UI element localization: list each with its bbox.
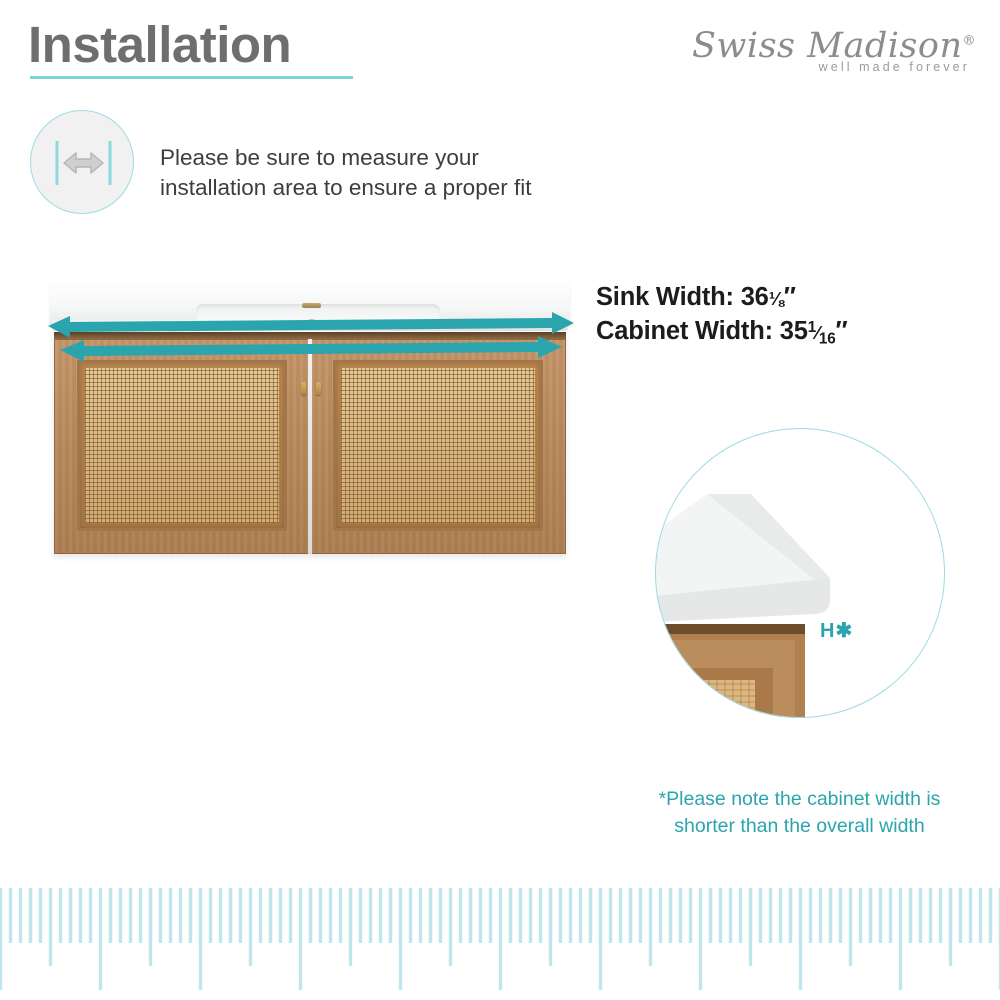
vanity-illustration [40,270,580,630]
detail-circle-ring [655,428,945,718]
ruler-ticks [1,888,1000,990]
cabinet-width-arrow [60,336,562,362]
cabinet-width-footnote: *Please note the cabinet width is shorte… [612,786,987,839]
title-underline [30,76,353,79]
overhang-detail-callout [655,428,945,718]
measure-instruction: Please be sure to measure your installat… [160,143,600,203]
cabinet-width-unit: ″ [836,317,848,345]
overhang-height-label: H✱ [820,618,853,643]
ruler-graphic [0,880,1000,1000]
double-arrow-measure-icon [31,111,135,215]
overhang-asterisk-icon: ✱ [835,620,853,642]
brand-logo: Swiss Madison® well made forever [692,26,976,74]
installation-diagram-page: Installation Swiss Madison® well made fo… [0,0,1000,1000]
cabinet-fraction-denominator: 16 [819,331,836,348]
footnote-line1: *Please note the cabinet width is [659,788,941,810]
overhang-letter: H [820,620,835,642]
sink-width-title: Sink Width: [596,283,734,311]
sink-width-value: 36 [741,283,769,311]
cabinet-width-fraction: 1⁄16 [808,322,836,343]
dimension-arrows [40,270,580,630]
sink-width-label: Sink Width: 36⅛″ [596,281,848,315]
dimension-labels: Sink Width: 36⅛″ Cabinet Width: 351⁄16″ [596,281,848,350]
footnote-line2: shorter than the overall width [674,815,924,837]
sink-width-unit: ″ [784,283,796,311]
registered-mark-icon: ® [963,33,977,48]
cabinet-width-value: 35 [780,317,808,345]
cabinet-width-label: Cabinet Width: 351⁄16″ [596,315,848,350]
sink-width-arrow [48,312,574,338]
measure-badge [30,110,134,214]
measure-instruction-line2: installation area to ensure a proper fit [160,175,531,200]
page-title: Installation [28,18,291,72]
cabinet-width-title: Cabinet Width: [596,317,773,345]
cabinet-fraction-numerator: 1 [808,319,816,336]
measure-instruction-line1: Please be sure to measure your [160,145,479,170]
sink-width-fraction: ⅛ [769,288,784,309]
